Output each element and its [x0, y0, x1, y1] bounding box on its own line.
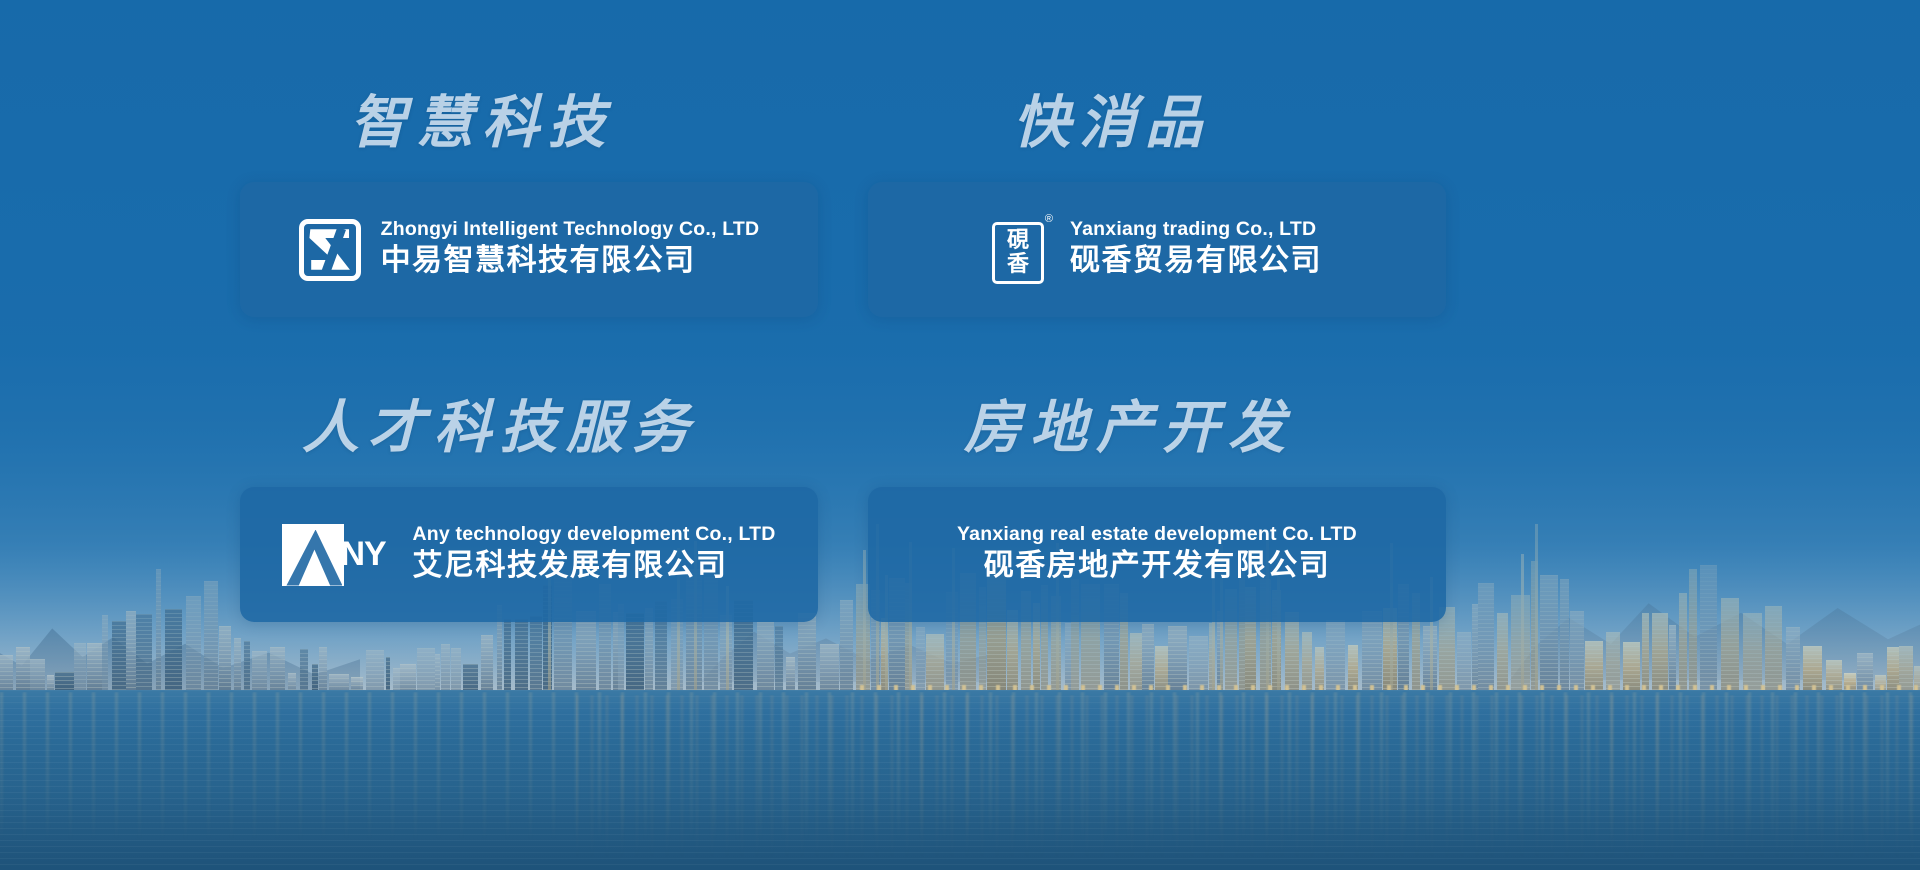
company-names: Yanxiang trading Co., LTD 砚香贸易有限公司 — [1070, 217, 1322, 282]
company-card[interactable]: Zhongyi Intelligent Technology Co., LTD … — [240, 182, 818, 317]
company-name-cn: 砚香贸易有限公司 — [1070, 241, 1322, 282]
company-name-en: Zhongyi Intelligent Technology Co., LTD — [381, 217, 760, 241]
segment-real-estate-development: 房地产开发 Yanxiang real estate development C… — [868, 400, 1446, 622]
any-wordmark: NY — [340, 537, 385, 571]
zhongyi-z-logo-icon — [299, 219, 361, 281]
company-names: Yanxiang real estate development Co. LTD… — [957, 522, 1357, 587]
company-card[interactable]: NY Any technology development Co., LTD 艾… — [240, 487, 818, 622]
company-name-cn: 中易智慧科技有限公司 — [381, 241, 760, 282]
company-card[interactable]: Yanxiang real estate development Co. LTD… — [868, 487, 1446, 622]
company-name-en: Yanxiang real estate development Co. LTD — [957, 522, 1357, 546]
registered-trademark-icon: ® — [1045, 214, 1053, 225]
company-name-en: Yanxiang trading Co., LTD — [1070, 217, 1322, 241]
segment-smart-technology: 智慧科技 Zhongyi Intelligent Technology Co.,… — [240, 95, 818, 317]
segment-talent-technology-services: 人才科技服务 NY Any technology development Co.… — [240, 400, 818, 622]
seal-glyph-top: 硯 — [1007, 229, 1029, 252]
any-logo-icon: NY — [282, 524, 392, 586]
segment-heading: 房地产开发 — [964, 400, 1446, 457]
segment-heading: 人才科技服务 — [302, 400, 818, 457]
segment-heading: 智慧科技 — [350, 95, 818, 152]
segment-heading: 快消品 — [1013, 95, 1446, 152]
segment-fast-moving-consumer-goods: 快消品 硯 香 ® Yanxiang trading Co., LTD 砚香贸易… — [868, 95, 1446, 317]
company-name-cn: 砚香房地产开发有限公司 — [984, 546, 1331, 587]
seal-glyph-bottom: 香 — [1007, 253, 1029, 276]
company-name-en: Any technology development Co., LTD — [412, 522, 775, 546]
company-name-cn: 艾尼科技发展有限公司 — [412, 546, 775, 587]
company-names: Any technology development Co., LTD 艾尼科技… — [412, 522, 775, 587]
yanxiang-seal-logo-icon: 硯 香 ® — [992, 216, 1050, 284]
company-names: Zhongyi Intelligent Technology Co., LTD … — [381, 217, 760, 282]
company-card[interactable]: 硯 香 ® Yanxiang trading Co., LTD 砚香贸易有限公司 — [868, 182, 1446, 317]
